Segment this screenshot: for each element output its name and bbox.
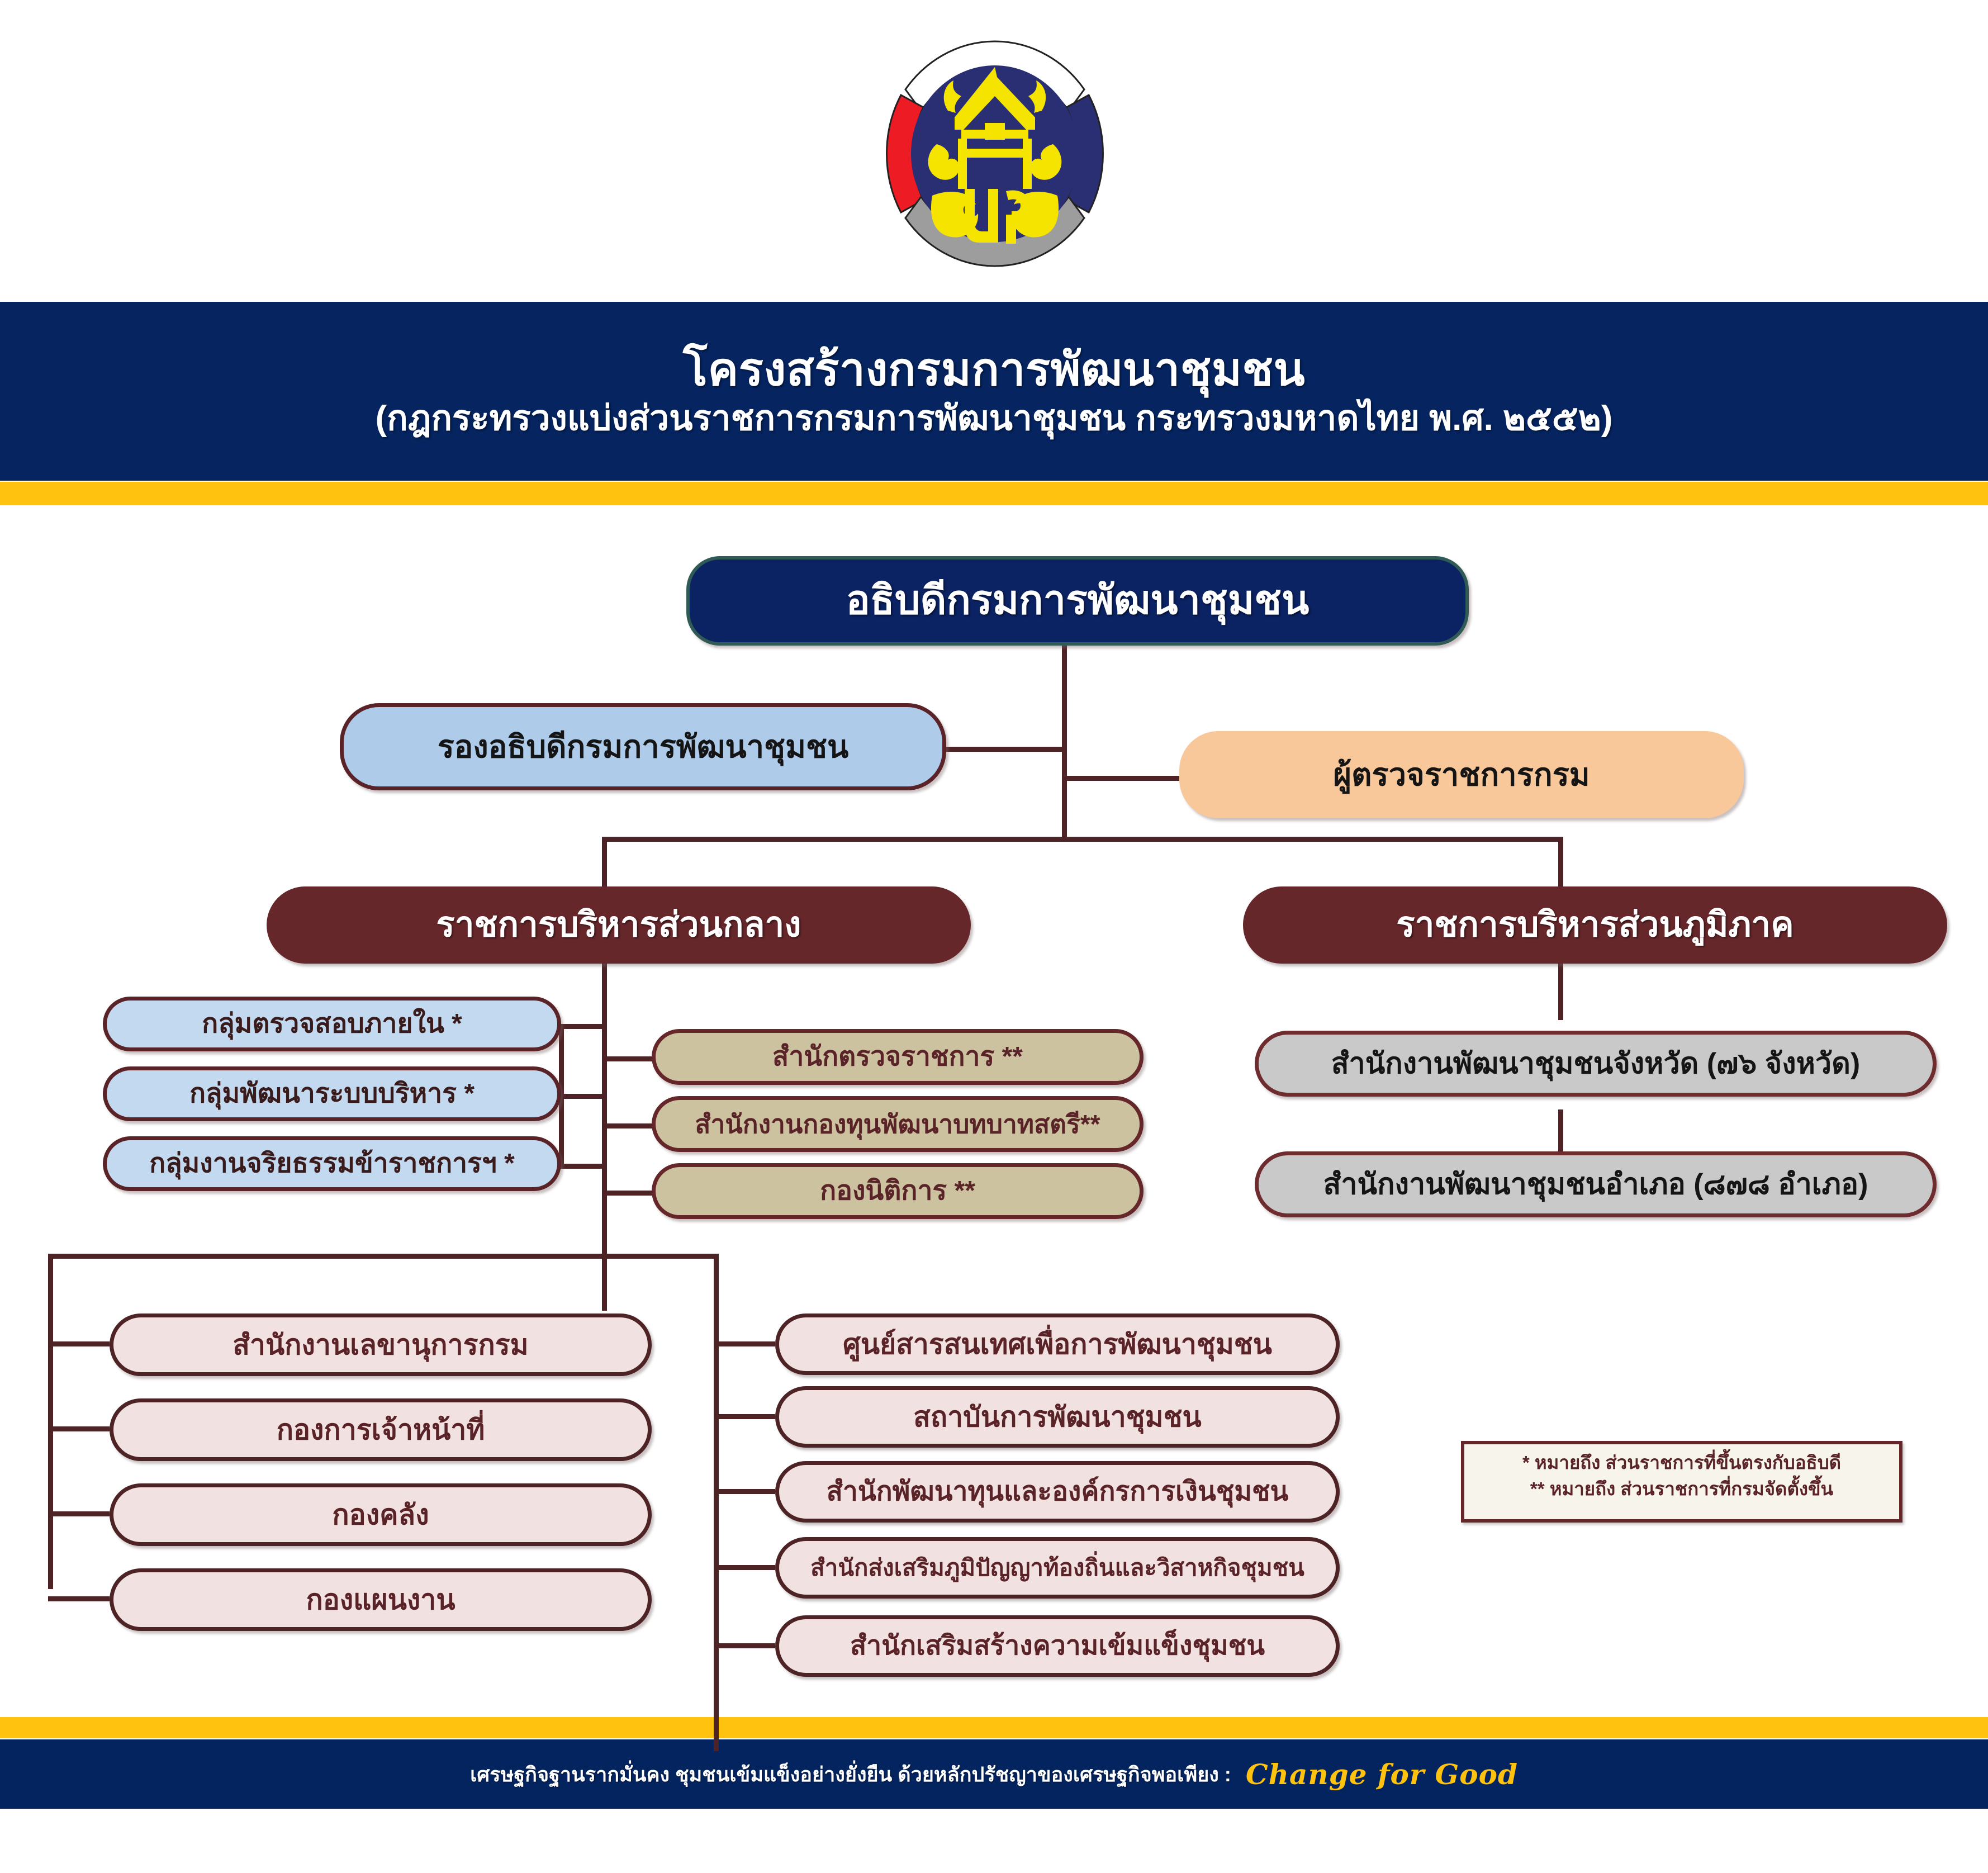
node-dept-unit-1[interactable]: สำนักตรวจราชการ ** bbox=[652, 1029, 1144, 1085]
node-central-right-1[interactable]: ศูนย์สารสนเทศเพื่อการพัฒนาชุมชน bbox=[775, 1314, 1340, 1375]
connector-direct-unit-2 bbox=[559, 1094, 607, 1099]
node-central-left-2[interactable]: กองการเจ้าหน้าที่ bbox=[110, 1398, 652, 1461]
connector-direct-unit-1 bbox=[559, 1024, 607, 1029]
node-inspector[interactable]: ผู้ตรวจราชการกรม bbox=[1179, 731, 1744, 818]
cdd-emblem-icon bbox=[838, 11, 1151, 291]
node-direct-unit-1[interactable]: กลุ่มตรวจสอบภายใน * bbox=[103, 997, 561, 1051]
connector-bottom-bracket-left-rail bbox=[48, 1254, 53, 1589]
legend-line-double-asterisk: ** หมายถึง ส่วนราชการที่กรมจัดตั้งขึ้น bbox=[1473, 1476, 1890, 1502]
legend-box: * หมายถึง ส่วนราชการที่ขึ้นตรงกับอธิบดี … bbox=[1461, 1441, 1902, 1523]
node-deputy[interactable]: รองอธิบดีกรมการพัฒนาชุมชน bbox=[340, 703, 946, 790]
node-central-left-1[interactable]: สำนักงานเลขานุการกรม bbox=[110, 1314, 652, 1376]
node-regional-unit-2[interactable]: สำนักงานพัฒนาชุมชนอำเภอ (๘๗๘ อำเภอ) bbox=[1255, 1151, 1937, 1217]
connector-right-unit-5 bbox=[714, 1643, 775, 1648]
connector-right-unit-2 bbox=[714, 1414, 775, 1419]
node-branch-regional[interactable]: ราชการบริหารส่วนภูมิภาค bbox=[1243, 886, 1947, 964]
connector-regional-drop bbox=[1558, 837, 1563, 893]
connector-left-unit-2 bbox=[48, 1426, 110, 1431]
connector-right-unit-3 bbox=[714, 1489, 775, 1494]
connector-regional-rail bbox=[1558, 959, 1563, 1020]
connector-left-unit-1 bbox=[48, 1341, 110, 1346]
footer-slogan: Change for Good bbox=[1246, 1758, 1518, 1791]
connector-dept-unit-2 bbox=[607, 1123, 654, 1128]
header-yellow-rule bbox=[0, 482, 1988, 505]
connector-dept-unit-1 bbox=[607, 1056, 654, 1061]
header-banner: โครงสร้างกรมการพัฒนาชุมชน (กฎกระทรวงแบ่ง… bbox=[0, 302, 1988, 481]
node-central-left-3[interactable]: กองคลัง bbox=[110, 1483, 652, 1546]
connector-bottom-bracket-top bbox=[48, 1254, 719, 1259]
connector-right-unit-1 bbox=[714, 1341, 775, 1346]
connector-inspector-stub bbox=[1062, 776, 1179, 781]
node-central-right-2[interactable]: สถาบันการพัฒนาชุมชน bbox=[775, 1386, 1340, 1448]
connector-director-spine bbox=[1062, 646, 1067, 838]
pavilion-glyph bbox=[928, 67, 1062, 244]
node-central-right-5[interactable]: สำนักเสริมสร้างความเข้มแข็งชุมชน bbox=[775, 1615, 1340, 1677]
connector-direct-unit-3 bbox=[559, 1164, 607, 1169]
node-branch-central[interactable]: ราชการบริหารส่วนกลาง bbox=[267, 886, 971, 964]
connector-deputy-stub bbox=[945, 747, 1065, 752]
page-title: โครงสร้างกรมการพัฒนาชุมชน bbox=[683, 344, 1305, 396]
node-dept-unit-3[interactable]: กองนิติการ ** bbox=[652, 1163, 1144, 1219]
footer-yellow-rule bbox=[0, 1717, 1988, 1738]
connector-left-unit-3 bbox=[48, 1511, 110, 1516]
footer-banner: เศรษฐกิจฐานรากมั่นคง ชุมชนเข้มแข็งอย่างย… bbox=[0, 1739, 1988, 1809]
legend-line-single-asterisk: * หมายถึง ส่วนราชการที่ขึ้นตรงกับอธิบดี bbox=[1473, 1450, 1890, 1476]
node-direct-unit-3[interactable]: กลุ่มงานจริยธรรมข้าราชการฯ * bbox=[103, 1136, 561, 1191]
node-central-right-3[interactable]: สำนักพัฒนาทุนและองค์กรการเงินชุมชน bbox=[775, 1461, 1340, 1523]
node-direct-unit-2[interactable]: กลุ่มพัฒนาระบบบริหาร * bbox=[103, 1066, 561, 1121]
connector-central-drop bbox=[602, 837, 607, 893]
node-central-left-4[interactable]: กองแผนงาน bbox=[110, 1568, 652, 1631]
connector-left-unit-4 bbox=[48, 1596, 110, 1601]
node-central-right-4[interactable]: สำนักส่งเสริมภูมิปัญญาท้องถิ่นและวิสาหกิ… bbox=[775, 1537, 1340, 1599]
node-regional-unit-1[interactable]: สำนักงานพัฒนาชุมชนจังหวัด (๗๖ จังหวัด) bbox=[1255, 1031, 1937, 1097]
node-dept-unit-2[interactable]: สำนักงานกองทุนพัฒนาบทบาทสตรี** bbox=[652, 1096, 1144, 1152]
connector-branch-bus bbox=[602, 837, 1563, 842]
connector-right-unit-4 bbox=[714, 1565, 775, 1570]
page-subtitle: (กฎกระทรวงแบ่งส่วนราชการกรมการพัฒนาชุมชน… bbox=[376, 399, 1613, 438]
connector-dept-unit-3 bbox=[607, 1191, 654, 1196]
node-director[interactable]: อธิบดีกรมการพัฒนาชุมชน bbox=[686, 556, 1469, 646]
cdd-emblem-logo bbox=[838, 11, 1151, 291]
connector-bottom-bracket-right-rail bbox=[714, 1254, 719, 1751]
footer-motto: เศรษฐกิจฐานรากมั่นคง ชุมชนเข้มแข็งอย่างย… bbox=[470, 1758, 1231, 1790]
